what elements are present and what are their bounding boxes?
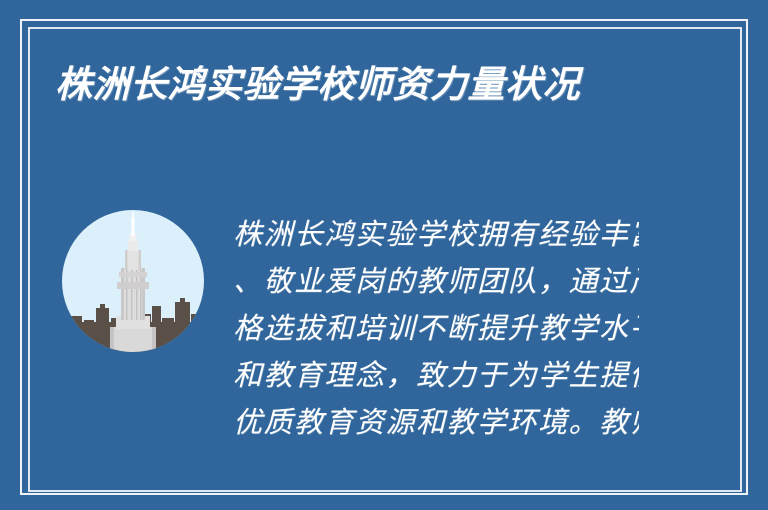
article-body-text: 株洲长鸿实验学校拥有经验丰富 、敬业爱岗的教师团队，通过严 格选拔和培训不断提升… [233,211,639,466]
article-cover-card: 株洲长鸿实验学校师资力量状况 [0,0,768,510]
body-line: 、敬业爱岗的教师团队，通过严 [233,258,639,305]
body-line: 和教育理念，致力于为学生提供 [233,352,639,399]
empire-state-building-icon [62,210,204,352]
body-line: 优质教育资源和教学环境。教师 [233,399,639,446]
body-line: 格选拔和培训不断提升教学水平 [233,305,639,352]
page-title: 株洲长鸿实验学校师资力量状况 [55,62,695,108]
body-line: 株洲长鸿实验学校拥有经验丰富 [233,211,639,258]
